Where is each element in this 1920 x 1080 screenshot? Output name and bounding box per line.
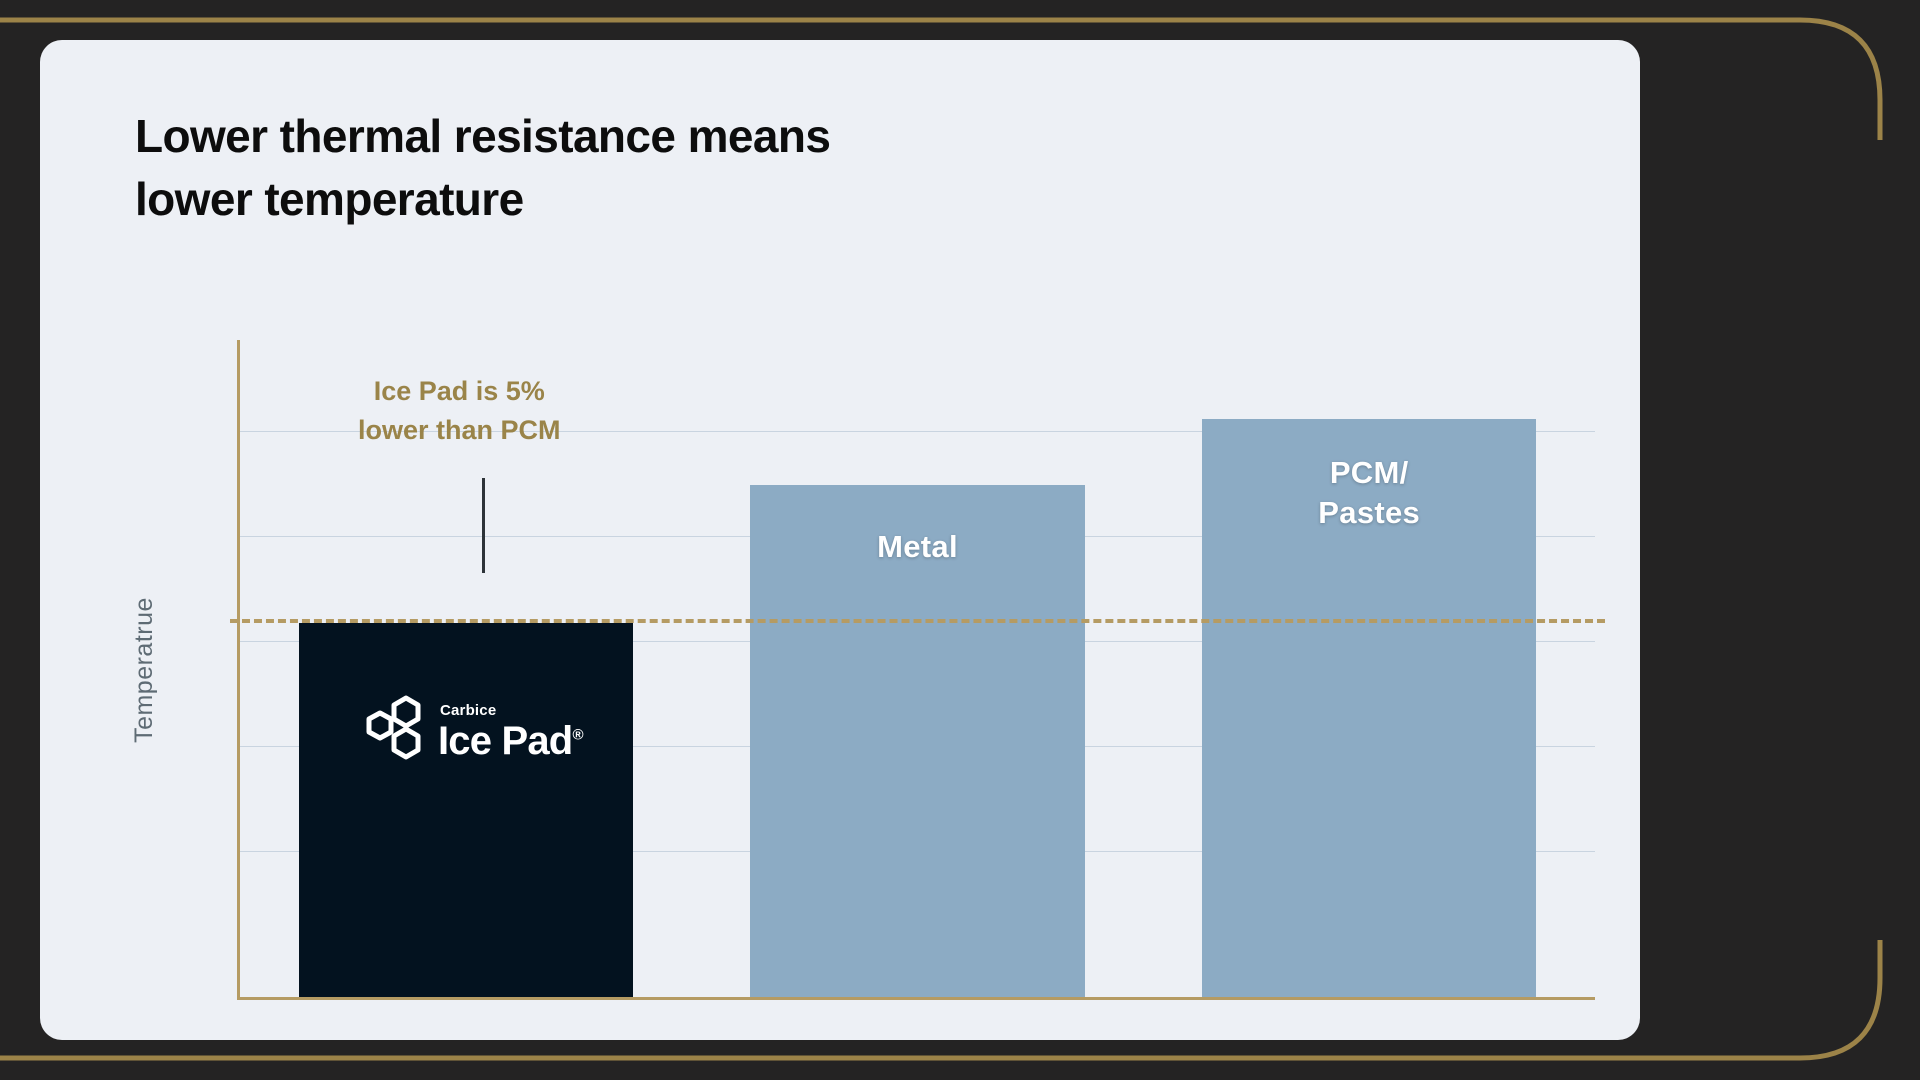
logo-brand: Carbice xyxy=(440,703,496,718)
bar-metal[interactable]: Metal xyxy=(750,485,1084,997)
title-line-2: lower temperature xyxy=(135,168,1135,231)
reference-line xyxy=(230,619,1605,623)
page-title: Lower thermal resistance means lower tem… xyxy=(135,105,1135,230)
annotation-line-2: lower than PCM xyxy=(358,411,561,450)
bar-slot-metal: Metal xyxy=(692,340,1144,997)
plot-area: Carbice Ice Pad® Metal xyxy=(237,340,1595,1000)
bar-label-metal: Metal xyxy=(750,527,1084,567)
bar-label-pcm-line-1: PCM/ xyxy=(1202,453,1536,493)
logo-wordmark: Carbice Ice Pad® xyxy=(438,703,583,761)
bar-label-pcm-line-2: Pastes xyxy=(1202,493,1536,533)
registered-mark: ® xyxy=(572,726,582,743)
annotation-callout: Ice Pad is 5% lower than PCM xyxy=(358,372,561,450)
bar-pcm-pastes[interactable]: PCM/ Pastes xyxy=(1202,419,1536,997)
title-line-1: Lower thermal resistance means xyxy=(135,105,1135,168)
hexagon-cluster-icon xyxy=(349,695,425,769)
y-axis-label: Temperatrue xyxy=(130,597,159,743)
slide-card: Lower thermal resistance means lower tem… xyxy=(40,40,1640,1040)
annotation-line-1: Ice Pad is 5% xyxy=(358,372,561,411)
ice-pad-logo: Carbice Ice Pad® xyxy=(299,695,633,769)
logo-product: Ice Pad® xyxy=(438,721,583,761)
bar-slot-pcm-pastes: PCM/ Pastes xyxy=(1143,340,1595,997)
annotation-leader-line xyxy=(482,478,485,573)
bar-ice-pad[interactable]: Carbice Ice Pad® xyxy=(299,623,633,997)
logo-product-text: Ice Pad xyxy=(438,719,572,763)
plot-inner: Carbice Ice Pad® Metal xyxy=(240,340,1595,997)
bar-chart: Temperatrue xyxy=(175,340,1595,1000)
bar-label-pcm-pastes: PCM/ Pastes xyxy=(1202,453,1536,532)
